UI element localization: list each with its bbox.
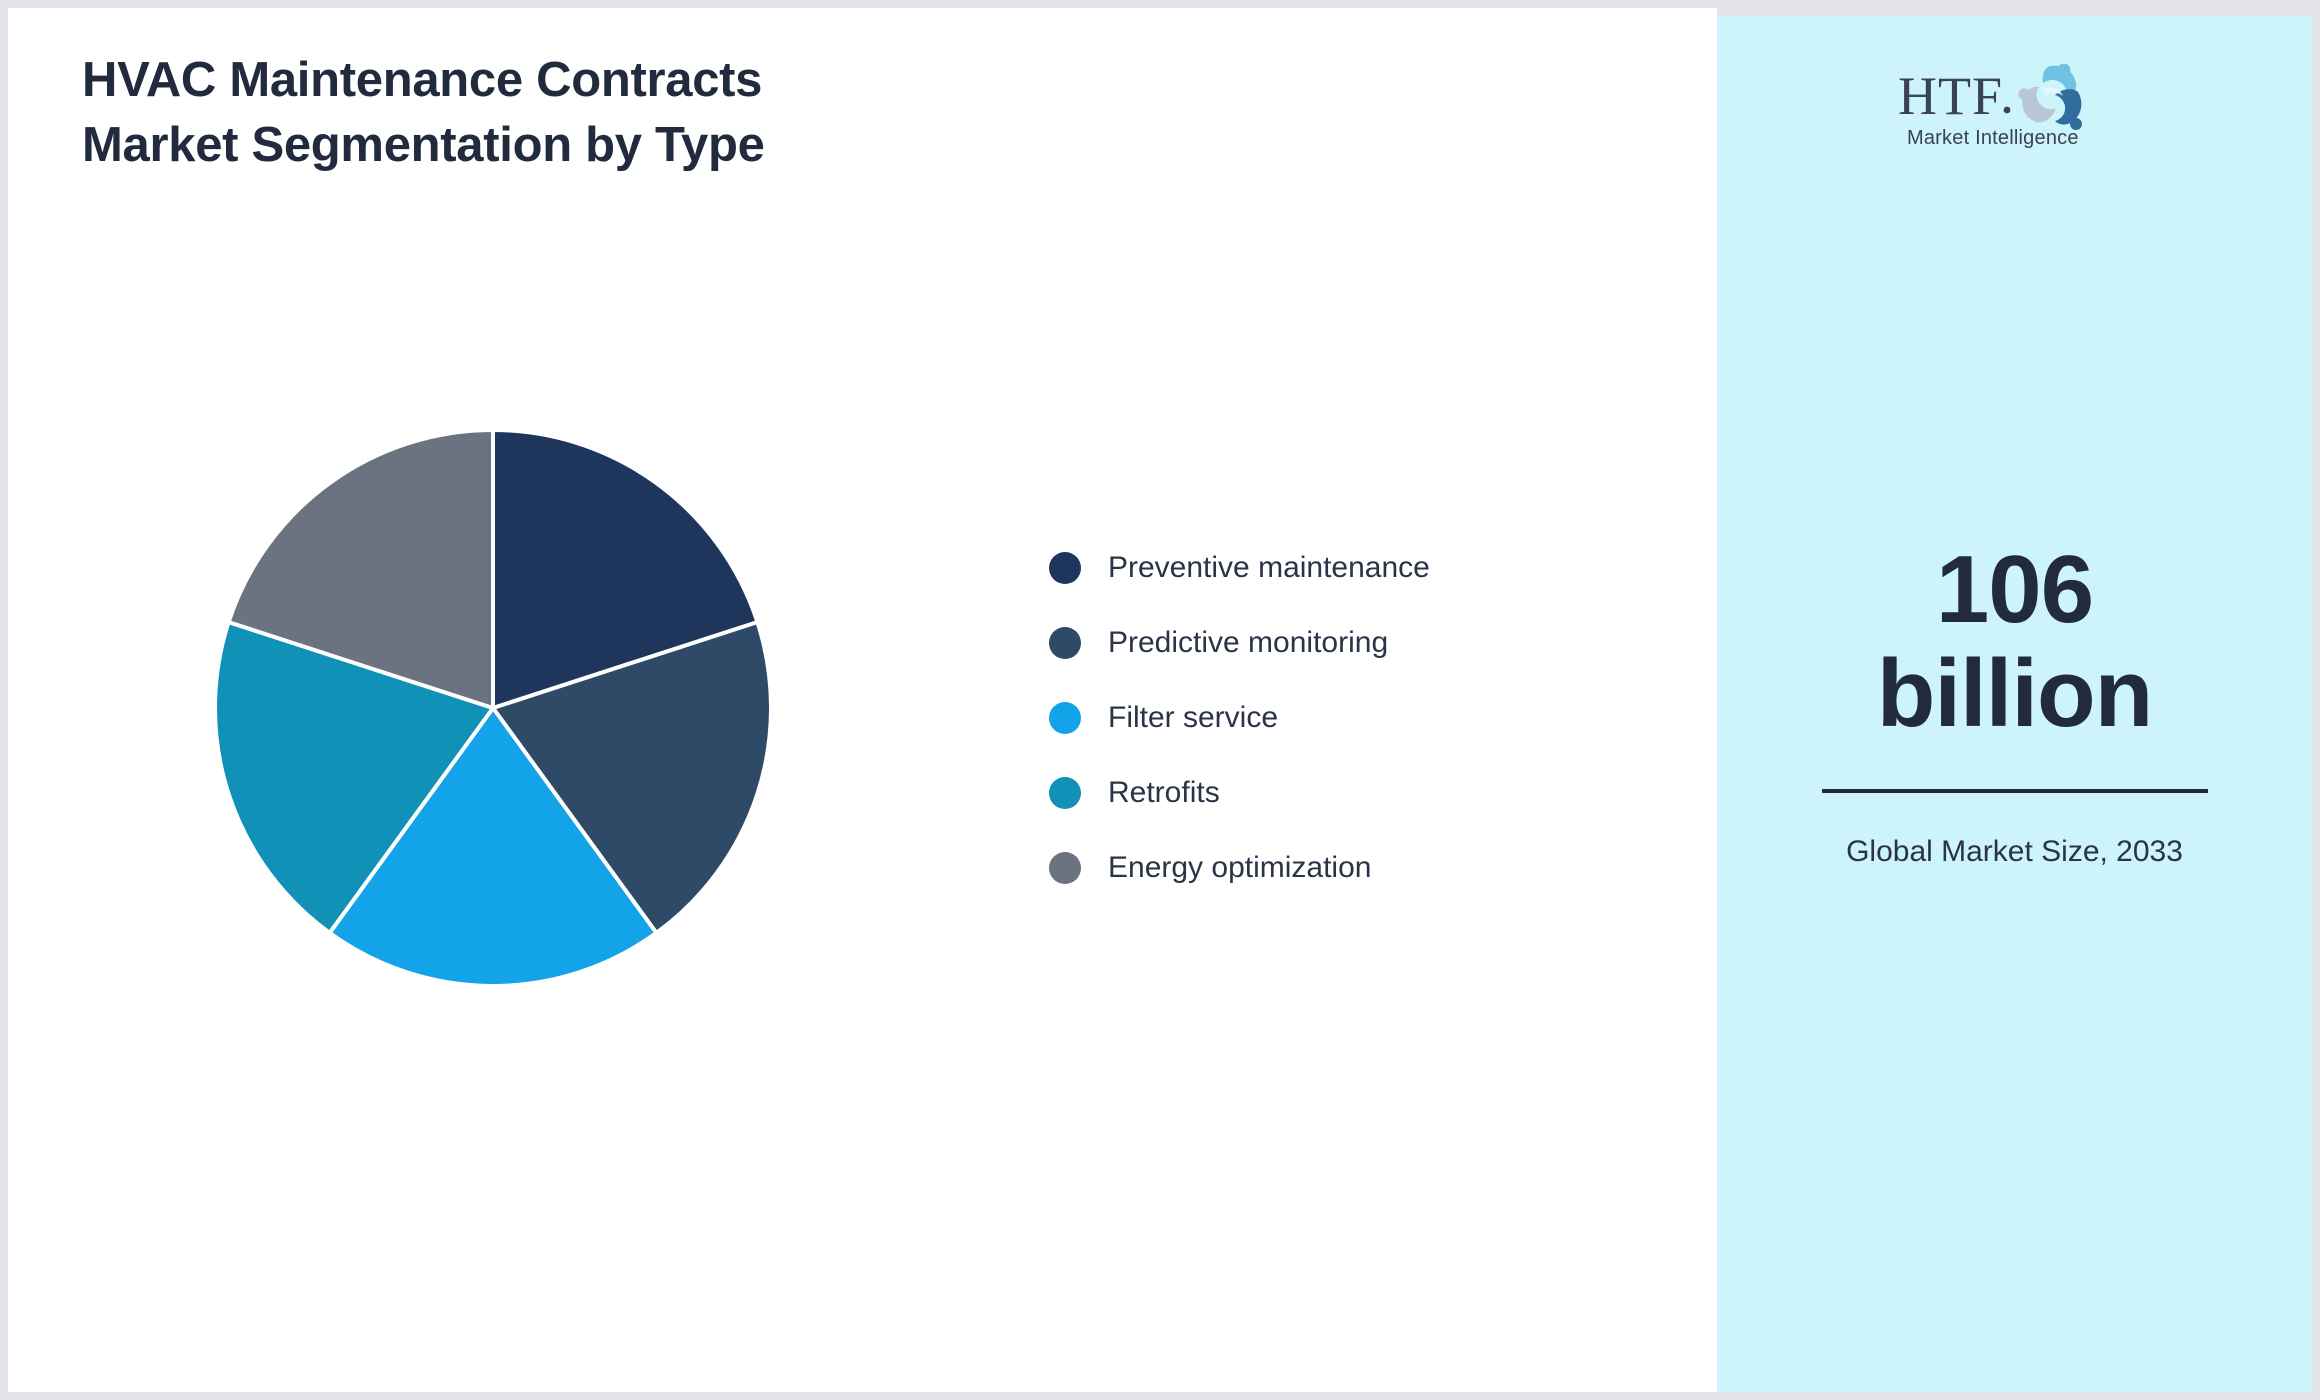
- legend-item-label: Filter service: [1108, 703, 1278, 733]
- logo-dot-icon: [2003, 107, 2010, 114]
- chart-legend: Preventive maintenance Predictive monito…: [1049, 530, 1609, 905]
- stat-caption: Global Market Size, 2033: [1717, 831, 2312, 872]
- stat-value: 106 billion: [1717, 538, 2312, 745]
- infographic-canvas: HVAC Maintenance Contracts Market Segmen…: [0, 0, 2320, 1400]
- legend-swatch-icon: [1049, 702, 1081, 734]
- logo-svg: HTF: [1890, 56, 2140, 152]
- legend-item-label: Retrofits: [1108, 778, 1220, 808]
- legend-item-preventive-maintenance[interactable]: Preventive maintenance: [1049, 530, 1609, 605]
- legend-item-energy-optimization[interactable]: Energy optimization: [1049, 830, 1609, 905]
- htf-market-intelligence-logo: HTF: [1890, 56, 2140, 152]
- legend-item-label: Energy optimization: [1108, 853, 1371, 883]
- stat-panel: HTF: [1717, 8, 2312, 1392]
- logo-wordmark-text: HTF: [1898, 66, 2003, 126]
- legend-swatch-icon: [1049, 777, 1081, 809]
- stat-block: 106 billion Global Market Size, 2033: [1717, 538, 2312, 873]
- logo-tagline-text: Market Intelligence: [1907, 127, 2079, 149]
- slide-canvas: HVAC Maintenance Contracts Market Segmen…: [8, 8, 2312, 1392]
- legend-swatch-icon: [1049, 552, 1081, 584]
- legend-swatch-icon: [1049, 627, 1081, 659]
- stat-divider: [1822, 789, 2208, 793]
- pie-chart: [183, 398, 803, 1018]
- pie-slice-group: [215, 430, 771, 986]
- three-figures-circle-icon: [2018, 64, 2082, 130]
- legend-item-label: Predictive monitoring: [1108, 628, 1388, 658]
- panel-top-strip: [1717, 8, 2312, 16]
- page-title: HVAC Maintenance Contracts Market Segmen…: [82, 48, 1182, 177]
- chart-panel: HVAC Maintenance Contracts Market Segmen…: [8, 8, 1717, 1392]
- legend-item-filter-service[interactable]: Filter service: [1049, 680, 1609, 755]
- pie-chart-svg: [183, 398, 803, 1018]
- legend-item-retrofits[interactable]: Retrofits: [1049, 755, 1609, 830]
- legend-item-predictive-monitoring[interactable]: Predictive monitoring: [1049, 605, 1609, 680]
- legend-item-label: Preventive maintenance: [1108, 553, 1430, 583]
- legend-swatch-icon: [1049, 852, 1081, 884]
